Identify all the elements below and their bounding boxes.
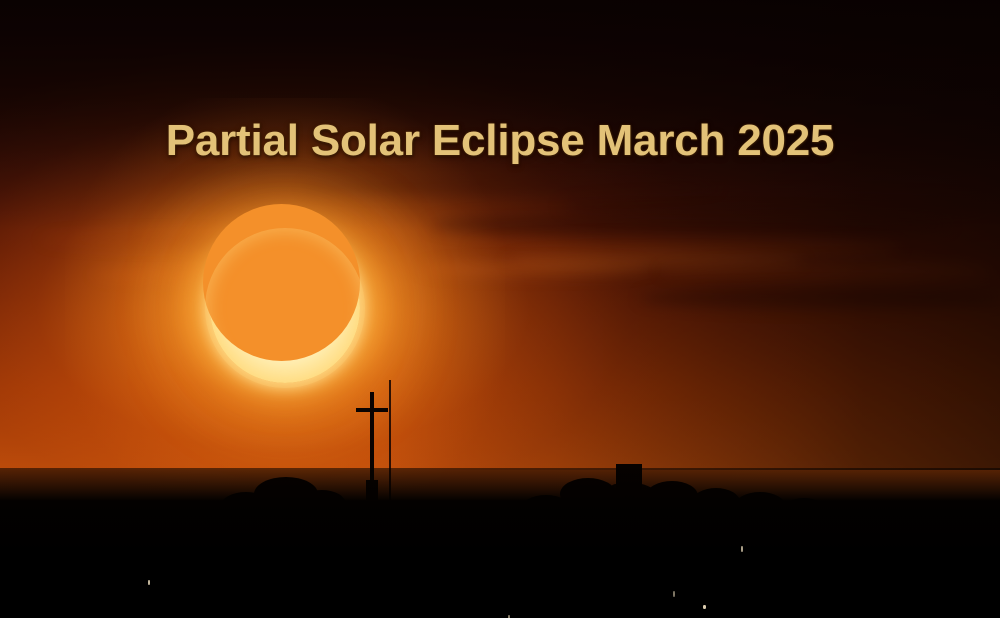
distant-light	[673, 591, 675, 597]
crescent-soft-edge	[205, 228, 365, 388]
landscape-silhouette	[0, 368, 1000, 618]
eclipse-photograph: Partial Solar Eclipse March 2025	[0, 0, 1000, 618]
eclipsed-sun	[205, 228, 365, 388]
page-title: Partial Solar Eclipse March 2025	[0, 116, 1000, 166]
distant-light	[741, 546, 743, 552]
foreground-ground	[0, 468, 1000, 618]
distant-light	[703, 605, 706, 609]
distant-light	[148, 580, 150, 585]
